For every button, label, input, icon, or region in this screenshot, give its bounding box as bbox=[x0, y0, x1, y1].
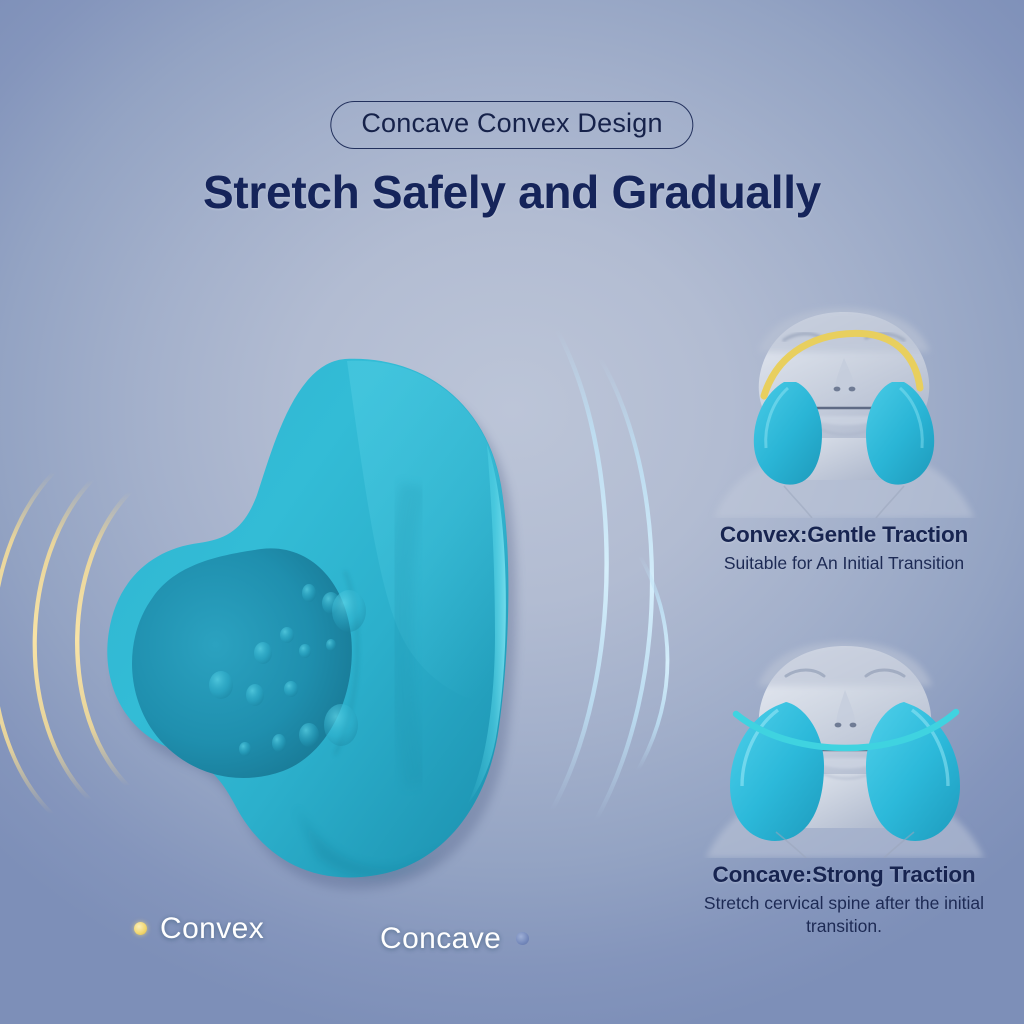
figure-convex-traction bbox=[672, 296, 1016, 518]
nostril-left bbox=[835, 723, 842, 728]
panel-convex: Convex:Gentle Traction Suitable for An I… bbox=[672, 296, 1016, 574]
section-badge: Concave Convex Design bbox=[330, 101, 693, 149]
nostril-left bbox=[834, 387, 841, 392]
product-scene: Convex Concave bbox=[0, 300, 680, 940]
concave-marker-dot bbox=[516, 932, 529, 945]
panel-concave: Concave:Strong Traction Stretch cervical… bbox=[672, 636, 1016, 937]
caption-convex-title: Convex:Gentle Traction bbox=[672, 522, 1016, 548]
forehead-fade bbox=[758, 642, 932, 686]
caption-concave-title: Concave:Strong Traction bbox=[672, 862, 1016, 888]
forehead-fade bbox=[758, 308, 930, 352]
nostril-right bbox=[849, 387, 856, 392]
figure-concave-traction bbox=[672, 636, 1016, 858]
concave-label: Concave bbox=[380, 922, 501, 956]
page-title: Stretch Safely and Gradually bbox=[0, 165, 1024, 219]
usage-panels: Convex:Gentle Traction Suitable for An I… bbox=[672, 296, 1016, 937]
nostril-right bbox=[850, 723, 857, 728]
caption-concave-subtitle: Stretch cervical spine after the initial… bbox=[672, 892, 1016, 937]
caption-convex: Convex:Gentle Traction Suitable for An I… bbox=[672, 522, 1016, 574]
caption-concave: Concave:Strong Traction Stretch cervical… bbox=[672, 862, 1016, 937]
convex-label: Convex bbox=[160, 912, 264, 946]
infographic-canvas: Concave Convex Design Stretch Safely and… bbox=[0, 0, 1024, 1024]
wave-right-group bbox=[552, 330, 668, 820]
neck-stretcher-product bbox=[95, 335, 565, 905]
caption-convex-subtitle: Suitable for An Initial Transition bbox=[672, 552, 1016, 574]
convex-marker-dot bbox=[134, 922, 147, 935]
